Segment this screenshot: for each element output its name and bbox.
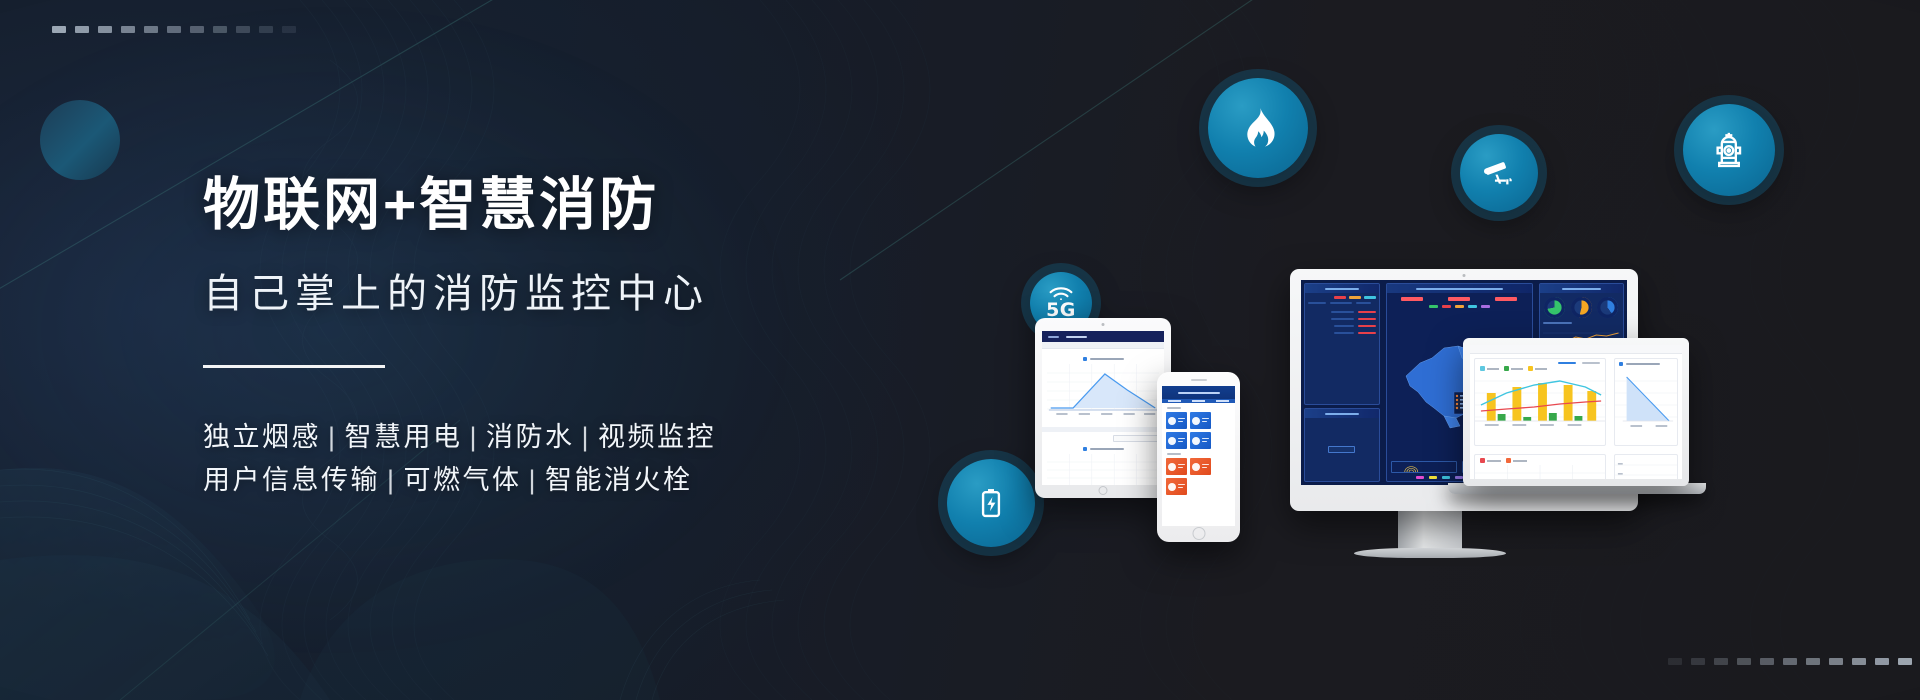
tile-icon (1168, 417, 1176, 425)
dash-mark (259, 26, 273, 33)
panel-body (1305, 293, 1379, 404)
panel-device-summary (1304, 408, 1380, 482)
tile-label (1178, 464, 1185, 470)
tile-icon (1192, 463, 1200, 471)
tile-icon (1168, 463, 1176, 471)
feature-item: 视频监控 (598, 422, 716, 452)
kpi-row (1387, 293, 1532, 303)
tile-icon (1192, 417, 1200, 425)
dash-mark (98, 26, 112, 33)
laptop-mini-chart (1615, 455, 1677, 479)
tablet-header (1042, 331, 1164, 342)
section-label (1167, 407, 1181, 409)
dash-mark (1737, 658, 1751, 665)
chart-title-2 (1047, 444, 1159, 454)
card-table (1474, 454, 1606, 479)
laptop-area-chart (1615, 369, 1677, 433)
laptop-screen (1470, 345, 1682, 479)
tablet-home-button[interactable] (1099, 486, 1108, 495)
dash-mark (213, 26, 227, 33)
section-label (1167, 453, 1181, 455)
feature-item: 智慧用电 (345, 422, 463, 452)
tile-label (1178, 438, 1185, 444)
tile-label (1178, 484, 1185, 490)
phone-tile[interactable] (1166, 458, 1187, 475)
laptop-topbar (1470, 345, 1682, 354)
tile-icon (1168, 437, 1176, 445)
phone-section-blue (1162, 403, 1235, 449)
feature-row-2: 用户信息传输|可燃气体|智能消火栓 (203, 459, 716, 502)
dash-mark (1714, 658, 1728, 665)
feature-list: 独立烟感|智慧用电|消防水|视频监控 用户信息传输|可燃气体|智能消火栓 (203, 416, 716, 501)
feature-item: 消防水 (486, 422, 575, 452)
phone-speaker (1191, 379, 1207, 381)
cctv-glyph (1481, 155, 1517, 191)
feature-separator: | (463, 422, 487, 452)
tablet-camera-dot (1102, 323, 1105, 326)
dash-mark (144, 26, 158, 33)
flame-icon (1208, 78, 1308, 178)
phone-tile[interactable] (1190, 458, 1211, 475)
dash-mark (1668, 658, 1682, 665)
card-bar-chart (1474, 358, 1606, 446)
wifi-arc-glyph (1048, 287, 1074, 300)
dash-mark (52, 26, 66, 33)
hero-copy: 物联网+智慧消防 自己掌上的消防监控中心 独立烟感|智慧用电|消防水|视频监控 … (203, 172, 716, 502)
dash-mark (1760, 658, 1774, 665)
phone-section-orange (1162, 449, 1235, 495)
card-mini (1614, 454, 1678, 479)
dash-mark (282, 26, 296, 33)
panel-header (1305, 284, 1379, 293)
panel-header (1305, 409, 1379, 418)
panel-alarm-list (1304, 283, 1380, 405)
tile-label (1202, 418, 1209, 424)
laptop-grid (1475, 465, 1605, 479)
panel-header (1540, 284, 1623, 293)
hydrant-glyph (1708, 129, 1750, 171)
dash-mark (1783, 658, 1797, 665)
dash-mark (1691, 658, 1705, 665)
tile-label (1178, 418, 1185, 424)
tablet-flat-chart (1047, 454, 1159, 485)
card-area-chart (1614, 358, 1678, 446)
phone-screen (1162, 386, 1235, 526)
feature-item: 可燃气体 (404, 465, 522, 495)
feature-item: 智能消火栓 (545, 465, 693, 495)
card-title (1615, 359, 1677, 369)
dash-mark (236, 26, 250, 33)
page-subtitle: 自己掌上的消防监控中心 (203, 261, 716, 319)
dash-mark (1829, 658, 1843, 665)
panel-header (1387, 284, 1532, 293)
smartphone (1157, 372, 1240, 542)
tile-icon (1192, 437, 1200, 445)
cctv-icon (1460, 134, 1538, 212)
tablet-subbar (1042, 342, 1164, 349)
phone-home-button[interactable] (1192, 527, 1205, 540)
device-cluster (1110, 280, 1750, 580)
divider-rule (203, 365, 385, 368)
phone-header (1162, 386, 1235, 399)
tile-label (1202, 438, 1209, 444)
tablet (1035, 318, 1171, 498)
decorative-orb (40, 100, 120, 180)
feature-separator: | (575, 422, 599, 452)
monitor-stand-foot (1354, 548, 1506, 558)
dash-mark (167, 26, 181, 33)
5g-label: 5G (1046, 301, 1076, 320)
banner-stage: 物联网+智慧消防 自己掌上的消防监控中心 独立烟感|智慧用电|消防水|视频监控 … (0, 0, 1920, 700)
tile-label (1202, 464, 1209, 470)
phone-tile[interactable] (1190, 412, 1211, 429)
tablet-screen (1042, 331, 1164, 485)
laptop-bar-chart (1475, 371, 1605, 429)
dash-mark (1852, 658, 1866, 665)
phone-tile[interactable] (1166, 432, 1187, 449)
tablet-area-chart (1047, 364, 1159, 418)
laptop (1463, 338, 1689, 486)
chart-title-1 (1047, 354, 1159, 364)
dash-mark (1875, 658, 1889, 665)
battery-icon (947, 459, 1035, 547)
battery-glyph (972, 484, 1010, 522)
feature-separator: | (380, 465, 404, 495)
phone-tile[interactable] (1166, 478, 1187, 495)
page-title: 物联网+智慧消防 (203, 172, 716, 239)
feature-row-1: 独立烟感|智慧用电|消防水|视频监控 (203, 416, 716, 459)
dots-top-left (52, 26, 296, 33)
dash-mark (1898, 658, 1912, 665)
tile-grid-orange (1166, 458, 1231, 495)
monitor-left-column (1301, 280, 1383, 485)
dash-mark (121, 26, 135, 33)
feature-item: 用户信息传输 (203, 465, 380, 495)
phone-tile[interactable] (1190, 432, 1211, 449)
feature-item: 独立烟感 (203, 422, 321, 452)
flame-glyph (1235, 105, 1281, 151)
hydrant-icon (1683, 104, 1775, 196)
gauge-row (1540, 293, 1623, 322)
phone-tile[interactable] (1166, 412, 1187, 429)
dash-mark (1806, 658, 1820, 665)
tile-grid-blue (1166, 412, 1231, 449)
dots-bottom-right (1668, 658, 1912, 665)
tile-icon (1168, 483, 1176, 491)
dash-mark (75, 26, 89, 33)
monitor-camera-dot (1463, 274, 1466, 277)
dash-mark (190, 26, 204, 33)
panel-body (1305, 418, 1379, 481)
feature-separator: | (321, 422, 345, 452)
feature-separator: | (522, 465, 546, 495)
map-legend (1387, 303, 1532, 310)
